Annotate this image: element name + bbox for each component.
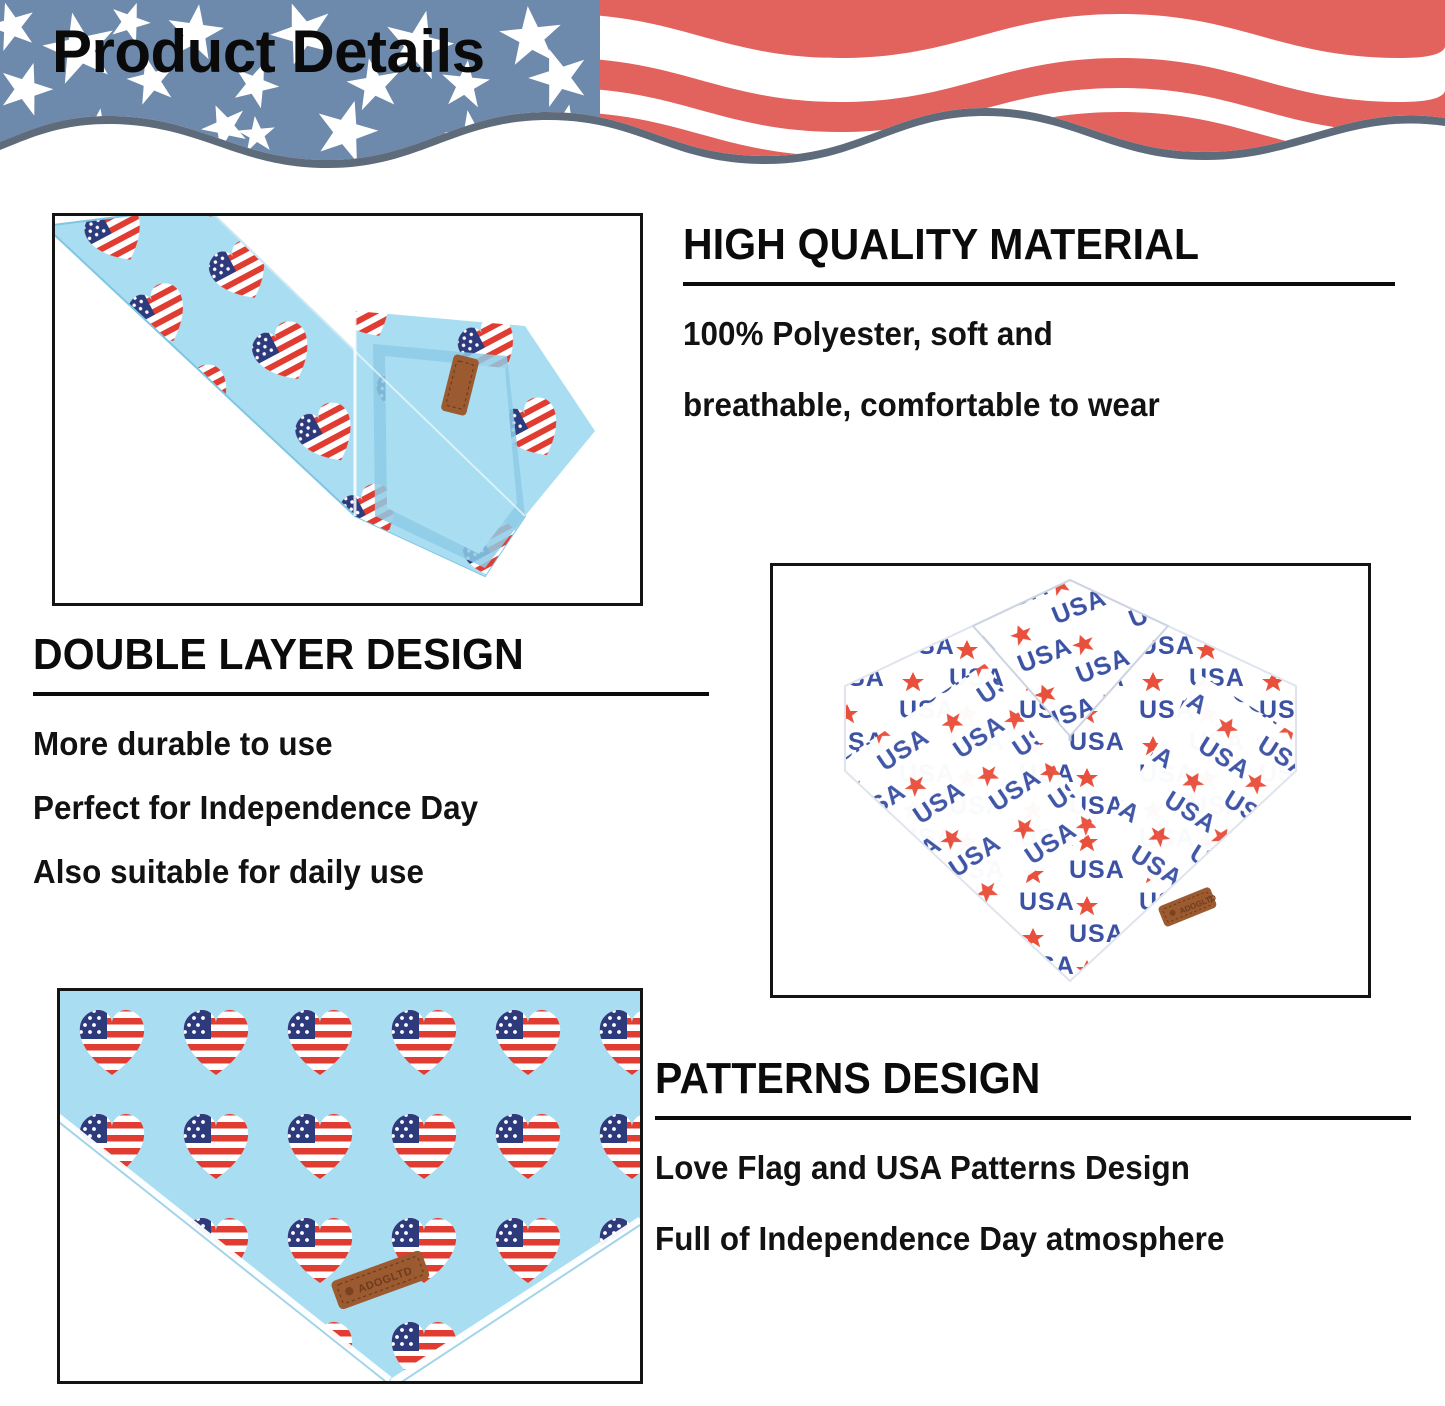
feature-heading-double-layer: DOUBLE LAYER DESIGN xyxy=(33,632,662,678)
feature-line: More durable to use xyxy=(33,726,675,763)
folded-bandana-image xyxy=(55,216,640,603)
feature-heading-patterns: PATTERNS DESIGN xyxy=(655,1056,1358,1102)
heading-divider xyxy=(33,692,709,696)
heading-divider xyxy=(655,1116,1411,1120)
feature-line: Love Flag and USA Patterns Design xyxy=(655,1150,1373,1187)
feature-line: breathable, comfortable to wear xyxy=(683,387,1359,424)
feature-line: Full of Independence Day atmosphere xyxy=(655,1221,1373,1258)
product-photo-flat-bandana: ADOGLTD xyxy=(57,988,643,1384)
page-title: Product Details xyxy=(52,17,485,86)
product-photo-folded-bandana xyxy=(52,213,643,606)
feature-line: Also suitable for daily use xyxy=(33,854,675,891)
feature-block-double-layer: DOUBLE LAYER DESIGN More durable to use … xyxy=(33,632,709,918)
feature-heading-material: HIGH QUALITY MATERIAL xyxy=(683,222,1345,268)
usa-bandana-image: USA USA xyxy=(773,566,1368,995)
product-photo-usa-bandana: USA USA xyxy=(770,563,1371,998)
feature-block-patterns: PATTERNS DESIGN Love Flag and USA Patter… xyxy=(655,1056,1411,1258)
flat-bandana-image: ADOGLTD xyxy=(60,991,640,1381)
feature-line: 100% Polyester, soft and xyxy=(683,316,1359,353)
feature-block-material: HIGH QUALITY MATERIAL 100% Polyester, so… xyxy=(683,222,1395,424)
heading-divider xyxy=(683,282,1395,286)
feature-line: Perfect for Independence Day xyxy=(33,790,675,827)
header-banner: Product Details xyxy=(0,0,1445,178)
